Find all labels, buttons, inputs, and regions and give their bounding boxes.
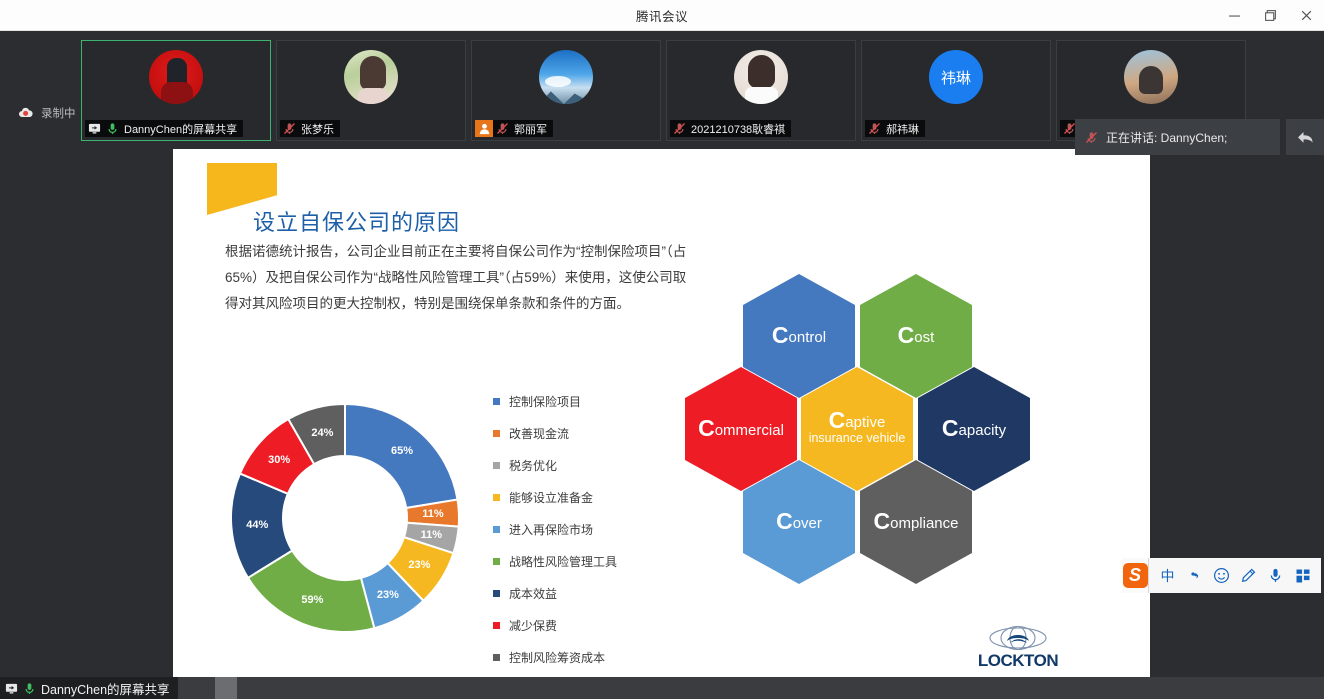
mic-muted-icon (496, 122, 509, 135)
participant-name: 郭丽军 (514, 121, 547, 137)
legend-swatch (493, 590, 500, 597)
sogou-logo-icon: S (1123, 563, 1148, 588)
mic-on-icon (23, 682, 36, 695)
participant-tile-3[interactable]: 郭丽军 (471, 40, 661, 141)
hexagon-label: Control (772, 327, 826, 346)
mic-muted-icon (283, 122, 296, 135)
close-button[interactable] (1288, 0, 1324, 31)
mic-muted-icon (868, 122, 881, 135)
participant-tiles: DannyChen的屏幕共享 张梦乐 (81, 40, 1246, 141)
legend-label: 能够设立准备金 (509, 489, 593, 506)
shared-screen-stage: 设立自保公司的原因 根据诺德统计报告，公司企业目前正在主要将自保公司作为“控制保… (0, 149, 1324, 677)
slide-body-text: 根据诺德统计报告，公司企业目前正在主要将自保公司作为“控制保险项目”（占65%）… (225, 239, 695, 317)
legend-swatch (493, 622, 500, 629)
participant-namebar-4: 2021210738耿睿祺 (670, 120, 791, 137)
legend-item: 改善现金流 (493, 417, 617, 449)
minimize-icon (1228, 9, 1241, 22)
ime-language-mode-button[interactable]: 中 (1156, 564, 1179, 587)
participant-name: 张梦乐 (301, 121, 334, 137)
avatar-initials: 祎琳 (941, 67, 971, 88)
restore-icon (1264, 9, 1277, 22)
smiley-icon (1213, 567, 1230, 584)
window-titlebar: 腾讯会议 (0, 0, 1324, 31)
legend-item: 减少保费 (493, 609, 617, 641)
cloud-record-icon (18, 107, 34, 119)
taskbar-item-label: DannyChen的屏幕共享 (41, 679, 170, 698)
hexagon-diagram: ControlCostCommercialCaptiveinsurance ve… (673, 274, 1043, 649)
participant-name: 郝祎琳 (886, 121, 919, 137)
donut-slice-label: 65% (391, 445, 413, 457)
legend-item: 能够设立准备金 (493, 481, 617, 513)
ime-emoji-button[interactable] (1210, 564, 1233, 587)
microphone-icon (1267, 567, 1284, 584)
legend-item: 成本效益 (493, 577, 617, 609)
participant-name: 2021210738耿睿祺 (691, 121, 785, 137)
hexagon-label: Commercial (698, 420, 784, 439)
legend-label: 进入再保险市场 (509, 521, 593, 538)
participant-namebar-2: 张梦乐 (280, 120, 340, 137)
recording-label: 录制中 (41, 105, 76, 121)
donut-chart: 65%11%11%23%23%59%44%30%24% (231, 404, 459, 632)
ime-voice-button[interactable] (1264, 564, 1287, 587)
ime-buttons: 中 (1148, 558, 1321, 593)
legend-label: 控制风险筹资成本 (509, 649, 605, 666)
participant-tile-4[interactable]: 2021210738耿睿祺 (666, 40, 856, 141)
taskbar-shade (215, 677, 237, 699)
avatar (539, 50, 593, 104)
hexagon-label: Capacity (942, 420, 1006, 439)
donut-slice-label: 24% (311, 427, 333, 439)
page-title: 腾讯会议 (636, 6, 688, 25)
restore-button[interactable] (1252, 0, 1288, 31)
host-badge-icon (478, 122, 491, 135)
legend-label: 战略性风险管理工具 (509, 553, 617, 570)
slide-title: 设立自保公司的原因 (253, 205, 460, 237)
speaking-toast: 正在讲话: DannyChen; (1075, 119, 1280, 155)
legend-item: 战略性风险管理工具 (493, 545, 617, 577)
legend-swatch (493, 526, 500, 533)
toast-back-button[interactable] (1286, 119, 1324, 155)
participant-tile-1[interactable]: DannyChen的屏幕共享 (81, 40, 271, 141)
screen-share-icon (5, 682, 18, 695)
sogou-ime-toolbar[interactable]: S 中 (1122, 558, 1321, 593)
donut-slice-label: 11% (421, 529, 442, 541)
hexagon-label: Captiveinsurance vehicle (809, 412, 906, 446)
participant-tile-5[interactable]: 祎琳 郝祎琳 (861, 40, 1051, 141)
legend-swatch (493, 430, 500, 437)
back-arrow-icon (1297, 130, 1314, 145)
taskbar: DannyChen的屏幕共享 (0, 677, 1324, 699)
legend-label: 税务优化 (509, 457, 557, 474)
legend-swatch (493, 462, 500, 469)
avatar: 祎琳 (929, 50, 983, 104)
window-controls (1216, 0, 1324, 31)
lockton-logo: LOCKTON (963, 627, 1073, 671)
ime-toolbox-button[interactable] (1291, 564, 1314, 587)
donut-slice-label: 44% (246, 519, 268, 531)
punctuation-icon (1187, 568, 1203, 584)
pencil-icon (1240, 567, 1257, 584)
donut-hole (283, 456, 408, 581)
close-icon (1300, 9, 1313, 22)
donut-slice-label: 59% (301, 594, 323, 606)
mic-on-icon (106, 122, 119, 135)
mic-muted-icon (1085, 131, 1098, 144)
participant-namebar-1: DannyChen的屏幕共享 (85, 120, 243, 137)
minimize-button[interactable] (1216, 0, 1252, 31)
speaking-label: 正在讲话: DannyChen; (1106, 129, 1227, 146)
avatar (344, 50, 398, 104)
legend-item: 进入再保险市场 (493, 513, 617, 545)
sogou-logo-button[interactable]: S (1122, 558, 1148, 593)
legend-label: 减少保费 (509, 617, 557, 634)
donut-slice-label: 30% (268, 454, 290, 466)
legend-item: 控制风险筹资成本 (493, 641, 617, 673)
hexagon-label: Cost (898, 327, 935, 346)
legend-label: 成本效益 (509, 585, 557, 602)
taskbar-item-screenshare[interactable]: DannyChen的屏幕共享 (0, 677, 178, 699)
screen-share-icon (88, 122, 101, 135)
mic-muted-icon (673, 122, 686, 135)
legend-item: 税务优化 (493, 449, 617, 481)
hexagon-label: Compliance (874, 513, 959, 532)
legend-swatch (493, 398, 500, 405)
avatar (1124, 50, 1178, 104)
ime-punctuation-button[interactable] (1183, 564, 1206, 587)
donut-slice-label: 23% (408, 559, 430, 571)
participant-tile-2[interactable]: 张梦乐 (276, 40, 466, 141)
legend-swatch (493, 494, 500, 501)
chart-legend: 控制保险项目改善现金流税务优化能够设立准备金进入再保险市场战略性风险管理工具成本… (493, 385, 617, 673)
recording-indicator: 录制中 (18, 105, 76, 121)
participant-name: DannyChen的屏幕共享 (124, 121, 237, 137)
hexagon-sublabel: insurance vehicle (809, 431, 906, 446)
avatar (149, 50, 203, 104)
participant-namebar-5: 郝祎琳 (865, 120, 925, 137)
legend-item: 控制保险项目 (493, 385, 617, 417)
lockton-wordmark: LOCKTON (963, 651, 1073, 671)
donut-slice-label: 11% (422, 508, 443, 520)
donut-slice-label: 23% (377, 589, 399, 601)
grid-icon (1295, 568, 1311, 584)
legend-swatch (493, 654, 500, 661)
tencent-meeting-window: 腾讯会议 (0, 0, 1324, 699)
participant-strip: 录制中 DannyChen的屏幕共享 (0, 31, 1324, 149)
legend-label: 控制保险项目 (509, 393, 581, 410)
legend-label: 改善现金流 (509, 425, 569, 442)
ime-handwriting-button[interactable] (1237, 564, 1260, 587)
legend-swatch (493, 558, 500, 565)
hexagon-label: Cover (776, 513, 822, 532)
avatar (734, 50, 788, 104)
presentation-slide: 设立自保公司的原因 根据诺德统计报告，公司企业目前正在主要将自保公司作为“控制保… (173, 149, 1150, 677)
host-badge (475, 120, 493, 137)
participant-namebar-3: 郭丽军 (493, 120, 553, 137)
